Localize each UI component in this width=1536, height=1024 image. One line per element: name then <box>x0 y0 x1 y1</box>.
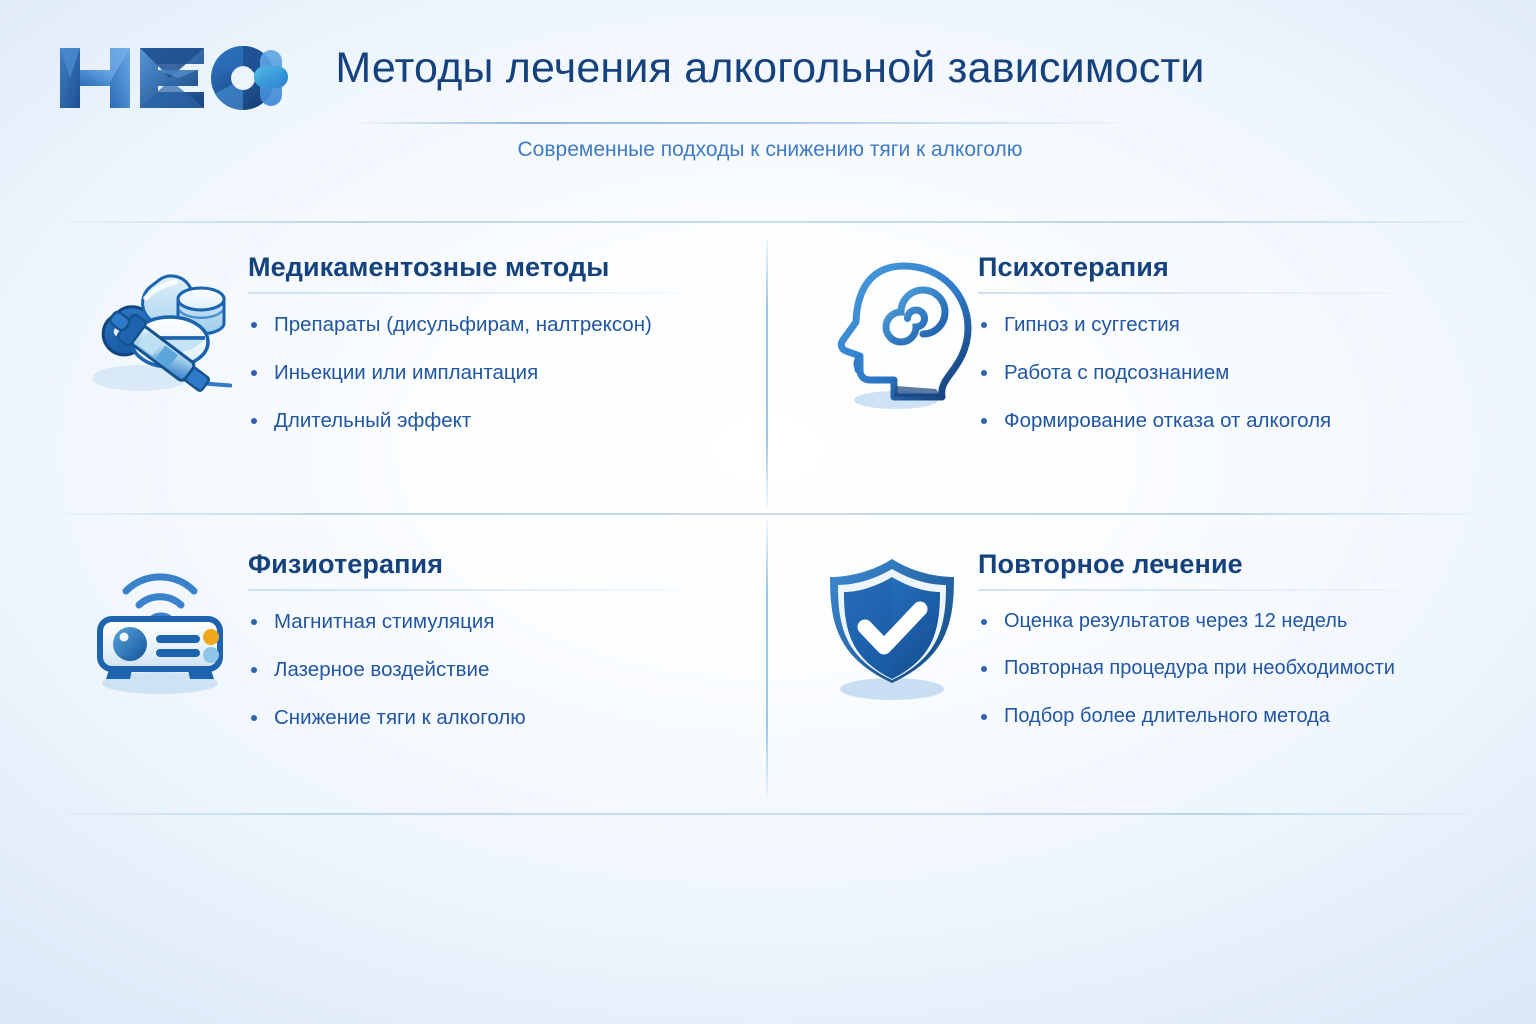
bullet-list: Препараты (дисульфирам, налтрексон) Инье… <box>248 311 753 434</box>
bullet-list: Оценка результатов через 12 недель Повто… <box>978 608 1483 729</box>
list-item: Работа с подсознанием <box>978 359 1483 386</box>
card-heading: Медикаментозные методы <box>248 248 753 283</box>
list-item: Иньекции или имплантация <box>248 359 753 386</box>
bullet-dot-icon <box>251 619 257 625</box>
signal-waves-icon <box>126 577 194 619</box>
bullet-list: Гипноз и суггестия Работа с подсознанием… <box>978 311 1483 434</box>
page-subtitle: Современные подходы к снижению тяги к ал… <box>310 138 1230 162</box>
card-heading-divider <box>978 292 1430 294</box>
card-heading: Повторное лечение <box>978 545 1483 580</box>
indicator-light-orange <box>203 629 219 645</box>
divider-top <box>68 221 1468 223</box>
card-medication: Медикаментозные методы Препараты (дисуль… <box>70 248 770 528</box>
card-heading-divider <box>248 292 700 294</box>
bullet-dot-icon <box>981 666 987 672</box>
list-item-label: Оценка результатов через 12 недель <box>1004 610 1347 632</box>
list-item-label: Работа с подсознанием <box>1004 361 1229 384</box>
card-heading-divider <box>978 589 1430 591</box>
list-item-label: Гипноз и суггестия <box>1004 313 1180 336</box>
list-item: Снижение тяги к алкоголю <box>248 704 753 731</box>
shield-check-icon <box>808 549 978 719</box>
bullet-dot-icon <box>981 370 987 376</box>
card-body: Психотерапия Гипноз и суггестия Работа с… <box>978 248 1483 434</box>
card-repeat-treatment: Повторное лечение Оценка результатов чер… <box>800 545 1500 825</box>
list-item: Формирование отказа от алкоголя <box>978 407 1483 434</box>
brand-logo <box>58 42 288 114</box>
list-item: Лазерное воздействие <box>248 656 753 683</box>
card-body: Медикаментозные методы Препараты (дисуль… <box>248 248 753 434</box>
list-item: Магнитная стимуляция <box>248 608 753 635</box>
list-item-label: Длительный эффект <box>274 409 471 432</box>
header: Методы лечения алкогольной зависимости С… <box>0 0 1536 200</box>
bullet-dot-icon <box>251 322 257 328</box>
list-item-label: Подбор более длительного метода <box>1004 705 1330 727</box>
bullet-dot-icon <box>981 619 987 625</box>
card-heading: Физиотерапия <box>248 545 753 580</box>
card-heading: Психотерапия <box>978 248 1483 283</box>
logo-letter-e <box>140 48 204 108</box>
bullet-dot-icon <box>981 418 987 424</box>
bullet-dot-icon <box>981 714 987 720</box>
pills-syringe-icon <box>78 252 248 422</box>
card-body: Физиотерапия Магнитная стимуляция Лазерн… <box>248 545 753 731</box>
bullet-dot-icon <box>251 667 257 673</box>
head-spiral-icon <box>808 252 978 422</box>
card-physiotherapy: Физиотерапия Магнитная стимуляция Лазерн… <box>70 545 770 825</box>
page-title: Методы лечения алкогольной зависимости <box>310 44 1230 93</box>
bullet-list: Магнитная стимуляция Лазерное воздействи… <box>248 608 753 731</box>
bullet-dot-icon <box>251 418 257 424</box>
therapy-device-icon <box>78 549 248 719</box>
card-body: Повторное лечение Оценка результатов чер… <box>978 545 1483 729</box>
bullet-dot-icon <box>251 715 257 721</box>
logo-letter-n <box>60 48 130 108</box>
bullet-dot-icon <box>251 370 257 376</box>
list-item-label: Препараты (дисульфирам, налтрексон) <box>274 313 652 336</box>
list-item-label: Иньекции или имплантация <box>274 361 538 384</box>
list-item: Препараты (дисульфирам, налтрексон) <box>248 311 753 338</box>
indicator-light-blue <box>203 647 219 663</box>
logo-svg <box>58 42 288 114</box>
infographic-poster: Методы лечения алкогольной зависимости С… <box>0 0 1536 1024</box>
list-item: Повторная процедура при необходимости <box>978 655 1483 681</box>
list-item-label: Повторная процедура при необходимости <box>1004 657 1395 679</box>
list-item: Оценка результатов через 12 недель <box>978 608 1483 634</box>
list-item-label: Лазерное воздействие <box>274 658 489 681</box>
title-divider <box>352 122 1148 124</box>
list-item-label: Магнитная стимуляция <box>274 610 494 633</box>
bullet-dot-icon <box>981 322 987 328</box>
list-item-label: Формирование отказа от алкоголя <box>1004 409 1331 432</box>
list-item: Гипноз и суггестия <box>978 311 1483 338</box>
list-item: Длительный эффект <box>248 407 753 434</box>
card-psychotherapy: Психотерапия Гипноз и суггестия Работа с… <box>800 248 1500 528</box>
card-heading-divider <box>248 589 700 591</box>
list-item-label: Снижение тяги к алкоголю <box>274 706 526 729</box>
list-item: Подбор более длительного метода <box>978 703 1483 729</box>
